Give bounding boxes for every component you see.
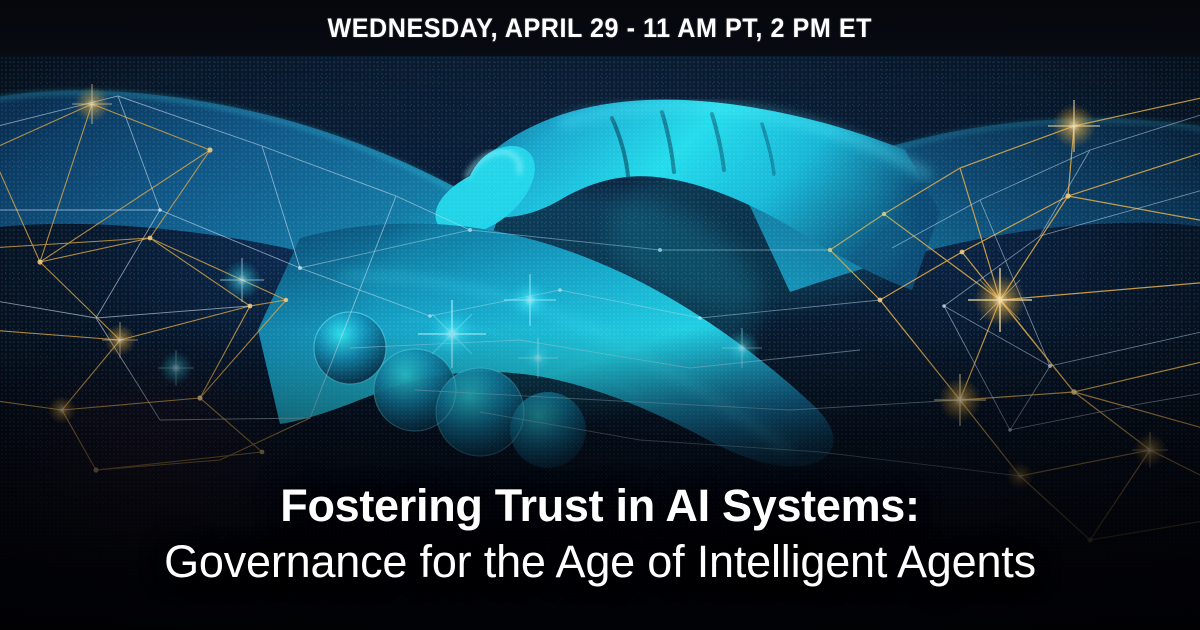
date-time-text: WEDNESDAY, APRIL 29 - 11 AM PT, 2 PM ET <box>328 13 873 44</box>
title-line-1: Fostering Trust in AI Systems: <box>14 479 1186 532</box>
webinar-banner: WEDNESDAY, APRIL 29 - 11 AM PT, 2 PM ET … <box>0 0 1200 630</box>
date-time-bar: WEDNESDAY, APRIL 29 - 11 AM PT, 2 PM ET <box>0 0 1200 56</box>
title-line-2: Governance for the Age of Intelligent Ag… <box>14 535 1186 590</box>
headline-block: Fostering Trust in AI Systems: Governanc… <box>0 479 1200 590</box>
